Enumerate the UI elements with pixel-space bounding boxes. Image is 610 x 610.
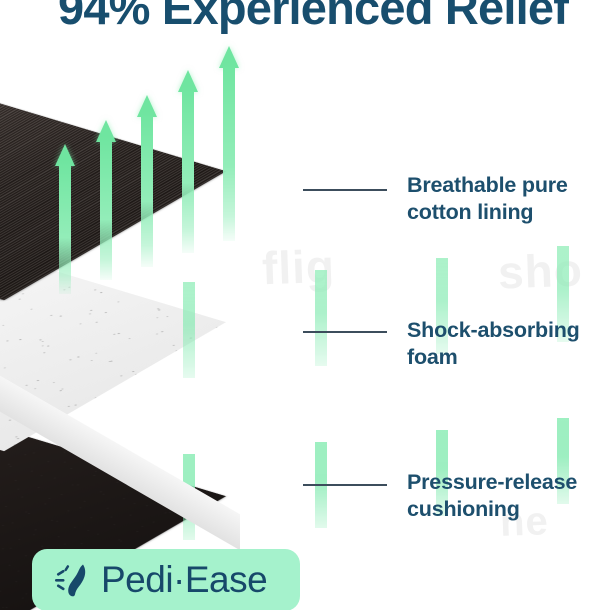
- arrow-shaft: [100, 136, 112, 280]
- footprint-shape: [68, 565, 85, 597]
- callout-line: Shock-absorbing: [407, 317, 580, 344]
- arrow-shaft: [223, 62, 235, 241]
- brand-name: Pedi·Ease: [101, 559, 267, 601]
- leader-line-cushioning: [303, 484, 387, 486]
- airflow-arrow: [137, 95, 157, 267]
- product-infographic: flig sho ne 94% Experienced Relief: [0, 0, 610, 610]
- callout-line: foam: [407, 344, 580, 371]
- callout-foam: Shock-absorbing foam: [407, 317, 580, 372]
- footprint-icon: [54, 560, 94, 600]
- page-title: 94% Experienced Relief: [58, 0, 568, 31]
- airflow-arrow: [55, 144, 75, 294]
- callout-cotton-lining: Breathable pure cotton lining: [407, 172, 568, 227]
- leader-line-cotton-lining: [303, 189, 387, 191]
- airflow-arrow: [96, 120, 116, 280]
- callout-line: cotton lining: [407, 199, 568, 226]
- callout-line: cushioning: [407, 496, 577, 523]
- airflow-arrow: [219, 46, 239, 241]
- airflow-segment: [315, 270, 327, 366]
- arrow-shaft: [59, 160, 71, 294]
- callout-line: Pressure-release: [407, 469, 577, 496]
- arrow-shaft: [141, 111, 153, 267]
- airflow-arrow: [178, 70, 198, 253]
- brand-badge: Pedi·Ease: [32, 549, 300, 610]
- arrow-shaft: [182, 86, 194, 253]
- leader-line-foam: [303, 331, 387, 333]
- callout-line: Breathable pure: [407, 172, 568, 199]
- callout-cushioning: Pressure-release cushioning: [407, 469, 577, 524]
